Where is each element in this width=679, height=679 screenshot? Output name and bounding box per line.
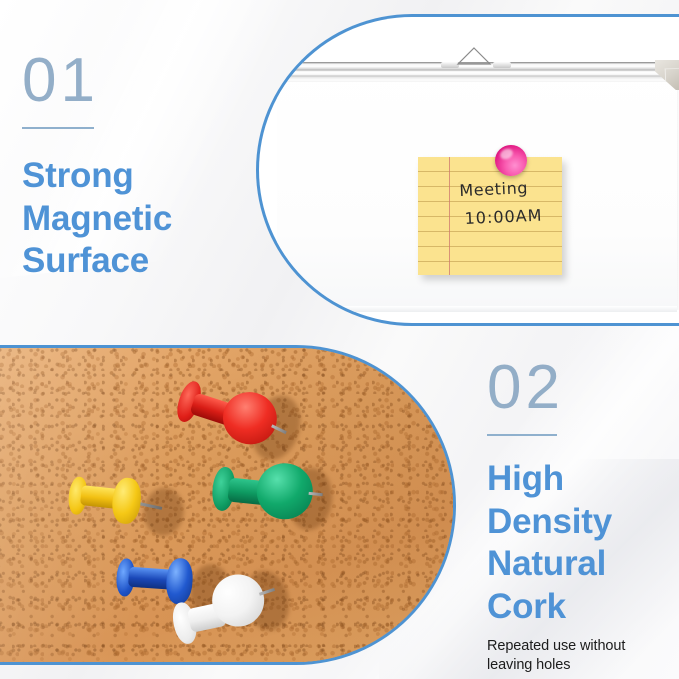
feature-headline-02: High Density Natural Cork (487, 458, 667, 629)
round-magnet-icon (495, 145, 527, 176)
feature-subline-02: Repeated use without leaving holes (487, 637, 667, 676)
green-pushpin-icon (208, 452, 336, 544)
whiteboard-hanger-clip-right (493, 62, 511, 68)
feature-headline-02-line-2: Density (487, 501, 667, 544)
whiteboard-photo: Meeting 10:00AM (271, 44, 679, 312)
sticky-note: Meeting 10:00AM (418, 157, 562, 275)
sticky-note-line-1: Meeting (459, 178, 528, 200)
feature-headline-02-line-1: High (487, 458, 667, 501)
feature-rule-02 (487, 434, 557, 436)
corkboard-panel (0, 345, 456, 665)
feature-block-01: 01 Strong Magnetic Surface (22, 50, 242, 283)
feature-headline-02-line-4: Cork (487, 586, 667, 629)
feature-headline-01-line-1: Strong (22, 155, 242, 198)
whiteboard-panel: Meeting 10:00AM (256, 14, 679, 326)
feature-infographic: Meeting 10:00AM 01 Stron (0, 0, 679, 679)
feature-block-02: 02 High Density Natural Cork Repeated us… (487, 357, 667, 676)
whiteboard-bottom-edge (277, 306, 677, 312)
sticky-note-margin-line (449, 157, 450, 275)
feature-headline-01-line-2: Magnetic (22, 198, 242, 241)
feature-headline-02-line-3: Natural (487, 543, 667, 586)
sticky-note-line-2: 10:00AM (460, 201, 559, 233)
feature-headline-01: Strong Magnetic Surface (22, 155, 242, 283)
whiteboard-top-rail (271, 62, 679, 82)
feature-rule-01 (22, 127, 94, 129)
yellow-pushpin-icon (65, 470, 191, 544)
triangle-wire-hanger-icon (456, 47, 492, 65)
feature-number-01: 01 (22, 50, 242, 112)
sticky-note-text: Meeting 10:00AM (459, 173, 559, 233)
feature-headline-01-line-3: Surface (22, 240, 242, 283)
feature-number-02: 02 (487, 357, 667, 419)
